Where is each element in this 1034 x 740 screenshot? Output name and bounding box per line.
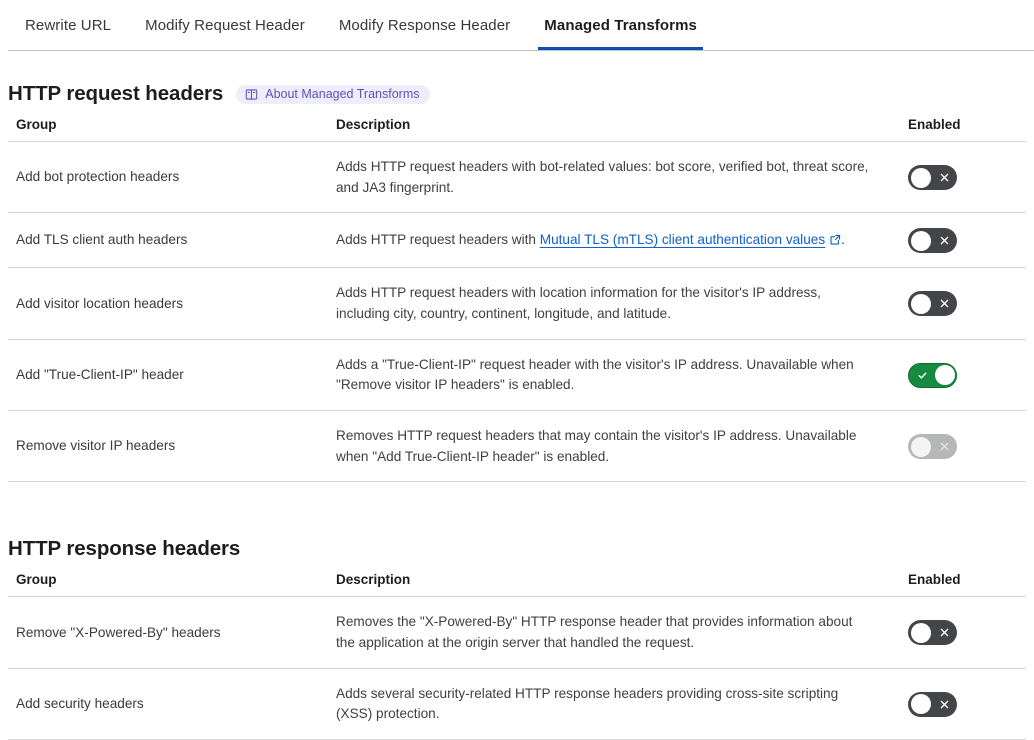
row-description: Adds HTTP request headers with location … [328,268,908,339]
enabled-toggle[interactable] [908,165,957,190]
enabled-toggle[interactable] [908,291,957,316]
row-description: Adds HTTP request headers with bot-relat… [328,142,908,213]
column-header-group: Group [8,112,328,142]
toggle-knob [911,623,931,643]
column-header-enabled: Enabled [908,567,1026,597]
tab-bar: Rewrite URL Modify Request Header Modify… [0,0,1034,51]
row-enabled-cell [908,268,1026,339]
row-enabled-cell [908,668,1026,739]
mtls-documentation-link[interactable]: Mutual TLS (mTLS) client authentication … [540,232,825,247]
row-enabled-cell [908,597,1026,668]
close-icon [932,228,956,253]
enabled-toggle[interactable] [908,620,957,645]
badge-label: About Managed Transforms [265,88,419,101]
tab-rewrite-url[interactable]: Rewrite URL [8,0,128,50]
toggle-knob [935,365,955,385]
toggle-knob [911,694,931,714]
toggle-knob [911,294,931,314]
response-headers-table: Group Description Enabled Remove "X-Powe… [8,567,1026,740]
page-title: HTTP request headers [8,82,223,106]
description-suffix: . [841,232,845,247]
row-description: Adds HTTP request headers with Mutual TL… [328,213,908,268]
toggle-knob [911,437,931,457]
table-row: Add "True-Client-IP" header Adds a "True… [8,339,1026,410]
row-description: Adds several security-related HTTP respo… [328,668,908,739]
tab-label: Managed Transforms [544,17,697,34]
close-icon [932,434,956,459]
table-header-row: Group Description Enabled [8,112,1026,142]
row-enabled-cell [908,142,1026,213]
request-headers-table: Group Description Enabled Add bot protec… [8,112,1026,482]
tab-label: Modify Request Header [145,17,305,34]
enabled-toggle[interactable] [908,692,957,717]
row-enabled-cell [908,410,1026,481]
row-description: Adds a "True-Client-IP" request header w… [328,339,908,410]
tab-label: Modify Response Header [339,17,510,34]
external-link-icon [830,231,841,242]
column-header-description: Description [328,567,908,597]
row-description: Removes HTTP request headers that may co… [328,410,908,481]
table-row: Remove visitor IP headers Removes HTTP r… [8,410,1026,481]
table-row: Add security headers Adds several securi… [8,668,1026,739]
enabled-toggle[interactable] [908,363,957,388]
section-spacer [8,482,1026,506]
column-header-group: Group [8,567,328,597]
row-enabled-cell [908,339,1026,410]
book-icon [245,88,258,101]
close-icon [932,620,956,645]
row-group-name: Remove "X-Powered-By" headers [8,597,328,668]
table-header-row: Group Description Enabled [8,567,1026,597]
tab-label: Rewrite URL [25,17,111,34]
row-group-name: Add visitor location headers [8,268,328,339]
tab-managed-transforms[interactable]: Managed Transforms [527,0,714,50]
enabled-toggle [908,434,957,459]
row-group-name: Add "True-Client-IP" header [8,339,328,410]
column-header-enabled: Enabled [908,112,1026,142]
section-http-response-headers: HTTP response headers Group Description … [8,506,1026,740]
about-managed-transforms-badge[interactable]: About Managed Transforms [236,85,430,104]
enabled-toggle[interactable] [908,228,957,253]
tab-modify-request-header[interactable]: Modify Request Header [128,0,322,50]
row-enabled-cell [908,213,1026,268]
table-row: Remove "X-Powered-By" headers Removes th… [8,597,1026,668]
tab-modify-response-header[interactable]: Modify Response Header [322,0,527,50]
close-icon [932,291,956,316]
table-row: Add TLS client auth headers Adds HTTP re… [8,213,1026,268]
row-group-name: Remove visitor IP headers [8,410,328,481]
response-section-header: HTTP response headers [8,506,1026,567]
description-prefix: Adds HTTP request headers with [336,232,540,247]
toggle-knob [911,231,931,251]
check-icon [910,364,934,387]
close-icon [932,692,956,717]
row-group-name: Add security headers [8,668,328,739]
row-group-name: Add bot protection headers [8,142,328,213]
response-section-title: HTTP response headers [8,537,240,561]
section-http-request-headers: HTTP request headers About Managed Trans… [8,51,1026,482]
toggle-knob [911,168,931,188]
page-content: HTTP request headers About Managed Trans… [0,51,1034,740]
row-group-name: Add TLS client auth headers [8,213,328,268]
row-description: Removes the "X-Powered-By" HTTP response… [328,597,908,668]
table-row: Add visitor location headers Adds HTTP r… [8,268,1026,339]
table-row: Add bot protection headers Adds HTTP req… [8,142,1026,213]
request-section-header: HTTP request headers About Managed Trans… [8,51,1026,112]
close-icon [932,165,956,190]
column-header-description: Description [328,112,908,142]
